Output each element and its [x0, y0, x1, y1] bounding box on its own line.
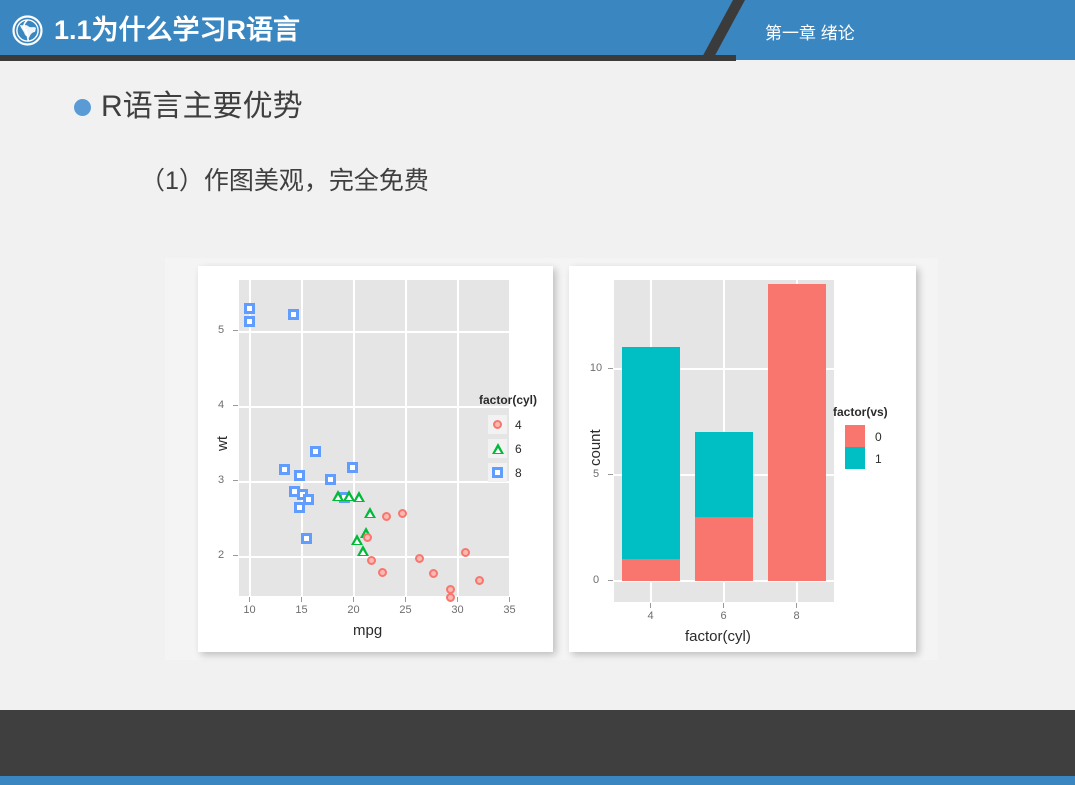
bar-segment: [622, 347, 680, 559]
globe-icon: [12, 15, 43, 46]
scatter-yaxis-title: wt: [214, 436, 231, 451]
legend-key-swatch: [488, 439, 507, 458]
scatter-point: [279, 464, 290, 475]
scatter-xaxis-title: mpg: [353, 622, 382, 639]
legend-key-swatch: [845, 425, 865, 447]
bar-legend-label: 1: [875, 452, 882, 466]
scatter-point: [461, 548, 470, 557]
scatter-point: [310, 446, 321, 457]
scatter-xtick-label: 10: [236, 604, 263, 616]
scatter-point: [244, 303, 255, 314]
scatter-ytick-label: 5: [212, 324, 230, 336]
bar-xtick-label: 6: [710, 610, 737, 622]
footer-accent-strip: [0, 776, 1075, 785]
bar-segment: [768, 284, 826, 581]
scatter-legend-label: 4: [515, 418, 522, 432]
scatter-point: [475, 576, 484, 585]
slide: 1.1为什么学习R语言 第一章 绪论 R语言主要优势 （1）作图美观，完全免费: [0, 0, 1075, 785]
scatter-point: [367, 556, 376, 565]
bar-segment: [695, 517, 753, 581]
triangle-icon: [492, 443, 504, 454]
scatter-legend: factor(cyl) 4 6 8: [479, 393, 569, 493]
bar-legend: factor(vs) 0 1: [833, 405, 923, 485]
header-underline: [0, 55, 736, 61]
scatter-point: [378, 568, 387, 577]
scatter-point: [446, 593, 455, 602]
scatter-panel: [239, 280, 511, 596]
chapter-label: 第一章 绪论: [765, 19, 855, 44]
footer-bar: [0, 710, 1075, 776]
scatter-legend-label: 8: [515, 466, 522, 480]
page-title: 1.1为什么学习R语言: [54, 12, 300, 48]
scatter-point: [382, 512, 391, 521]
bar-legend-title: factor(vs): [833, 405, 888, 419]
bar-segment: [695, 432, 753, 517]
scatter-xtick-label: 20: [340, 604, 367, 616]
circle-icon: [493, 420, 502, 429]
scatter-xtick-label: 25: [392, 604, 419, 616]
bar-xtick-label: 8: [783, 610, 810, 622]
square-icon: [492, 467, 503, 478]
bar-panel: [614, 280, 834, 602]
bar-ytick-label: 10: [585, 362, 607, 374]
scatter-point: [294, 470, 305, 481]
scatter-point: [364, 507, 376, 518]
sub-item-label: （1）作图美观，完全免费: [140, 161, 429, 197]
bar-ytick-label: 5: [585, 468, 607, 480]
scatter-point: [353, 491, 365, 502]
scatter-point: [325, 474, 336, 485]
scatter-point: [429, 569, 438, 578]
scatter-xtick-label: 30: [444, 604, 471, 616]
scatter-point: [294, 502, 305, 513]
figure-area: 5 4 3 2 10 15 20 25 30 35 mpg wt: [165, 258, 938, 660]
scatter-point: [288, 309, 299, 320]
bullet-label: R语言主要优势: [101, 88, 303, 126]
legend-key-swatch: [845, 447, 865, 469]
scatter-legend-title: factor(cyl): [479, 393, 537, 407]
scatter-point: [398, 509, 407, 518]
bar-ytick-label: 0: [585, 574, 607, 586]
legend-key-swatch: [488, 415, 507, 434]
scatter-xtick-label: 15: [288, 604, 315, 616]
bar-yaxis-title: count: [587, 429, 604, 466]
bullet-dot-icon: [74, 99, 91, 116]
scatter-point: [244, 316, 255, 327]
scatter-point: [351, 534, 363, 545]
bar-legend-label: 0: [875, 430, 882, 444]
legend-key-swatch: [488, 463, 507, 482]
bullet-item: R语言主要优势: [74, 88, 303, 126]
bar-segment: [622, 559, 680, 581]
bar-xtick-label: 4: [637, 610, 664, 622]
scatter-point: [415, 554, 424, 563]
scatter-point: [301, 533, 312, 544]
scatter-ytick-label: 2: [212, 549, 230, 561]
scatter-legend-label: 6: [515, 442, 522, 456]
scatter-ytick-label: 4: [212, 399, 230, 411]
bar-xaxis-title: factor(cyl): [685, 628, 751, 645]
scatter-ytick-label: 3: [212, 474, 230, 486]
scatter-point: [347, 462, 358, 473]
slide-header: 1.1为什么学习R语言 第一章 绪论: [0, 0, 1075, 60]
scatter-point: [363, 533, 372, 542]
scatter-xtick-label: 35: [496, 604, 523, 616]
scatter-point: [357, 545, 369, 556]
